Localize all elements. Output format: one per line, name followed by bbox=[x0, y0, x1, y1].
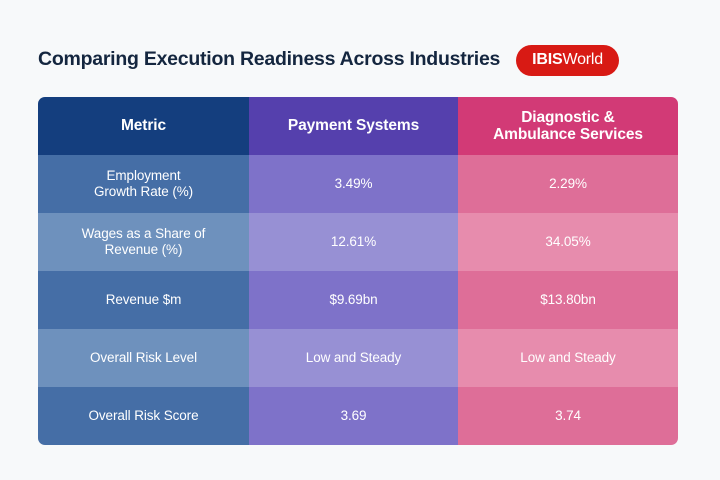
row-metric-label-line2: Revenue (%) bbox=[48, 242, 239, 258]
row-value-diagnostic-ambulance: 34.05% bbox=[458, 213, 678, 271]
column-header-diagnostic-ambulance: Diagnostic & Ambulance Services bbox=[458, 97, 678, 155]
table-header-row: Metric Payment Systems Diagnostic & Ambu… bbox=[38, 97, 678, 155]
infographic-page: Comparing Execution Readiness Across Ind… bbox=[0, 0, 720, 480]
row-metric-label: Employment Growth Rate (%) bbox=[38, 155, 249, 213]
page-title: Comparing Execution Readiness Across Ind… bbox=[38, 49, 500, 70]
row-metric-label: Wages as a Share of Revenue (%) bbox=[38, 213, 249, 271]
table-body: Employment Growth Rate (%) 3.49% 2.29% W… bbox=[38, 155, 678, 445]
comparison-table: Metric Payment Systems Diagnostic & Ambu… bbox=[38, 97, 678, 445]
row-value-payment-systems: $9.69bn bbox=[249, 271, 458, 329]
brand-name-bold: IBIS bbox=[532, 51, 562, 69]
table-row: Employment Growth Rate (%) 3.49% 2.29% bbox=[38, 155, 678, 213]
row-value-diagnostic-ambulance: 2.29% bbox=[458, 155, 678, 213]
table-row: Overall Risk Score 3.69 3.74 bbox=[38, 387, 678, 445]
row-metric-label: Overall Risk Score bbox=[38, 387, 249, 445]
row-metric-label-line1: Overall Risk Level bbox=[48, 350, 239, 366]
column-header-payment-systems: Payment Systems bbox=[249, 97, 458, 155]
row-metric-label-line1: Revenue $m bbox=[48, 292, 239, 308]
column-header-diagnostic-ambulance-line1: Diagnostic & bbox=[466, 109, 670, 126]
table-row: Revenue $m $9.69bn $13.80bn bbox=[38, 271, 678, 329]
row-metric-label-line1: Overall Risk Score bbox=[48, 408, 239, 424]
row-metric-label: Overall Risk Level bbox=[38, 329, 249, 387]
table-header: Metric Payment Systems Diagnostic & Ambu… bbox=[38, 97, 678, 155]
page-header: Comparing Execution Readiness Across Ind… bbox=[38, 38, 680, 82]
row-value-payment-systems: 12.61% bbox=[249, 213, 458, 271]
row-value-diagnostic-ambulance: $13.80bn bbox=[458, 271, 678, 329]
row-value-payment-systems: Low and Steady bbox=[249, 329, 458, 387]
row-value-payment-systems: 3.49% bbox=[249, 155, 458, 213]
row-metric-label: Revenue $m bbox=[38, 271, 249, 329]
column-header-payment-systems-line1: Payment Systems bbox=[257, 117, 450, 134]
row-metric-label-line1: Employment bbox=[48, 168, 239, 184]
column-header-metric: Metric bbox=[38, 97, 249, 155]
row-value-diagnostic-ambulance: Low and Steady bbox=[458, 329, 678, 387]
table-row: Wages as a Share of Revenue (%) 12.61% 3… bbox=[38, 213, 678, 271]
column-header-diagnostic-ambulance-line2: Ambulance Services bbox=[466, 126, 670, 143]
ibisworld-logo-badge: IBISWorld bbox=[516, 45, 619, 76]
comparison-table-container: Metric Payment Systems Diagnostic & Ambu… bbox=[38, 97, 678, 445]
row-value-diagnostic-ambulance: 3.74 bbox=[458, 387, 678, 445]
table-row: Overall Risk Level Low and Steady Low an… bbox=[38, 329, 678, 387]
row-metric-label-line2: Growth Rate (%) bbox=[48, 184, 239, 200]
brand-name-regular: World bbox=[562, 51, 603, 69]
row-metric-label-line1: Wages as a Share of bbox=[48, 226, 239, 242]
row-value-payment-systems: 3.69 bbox=[249, 387, 458, 445]
